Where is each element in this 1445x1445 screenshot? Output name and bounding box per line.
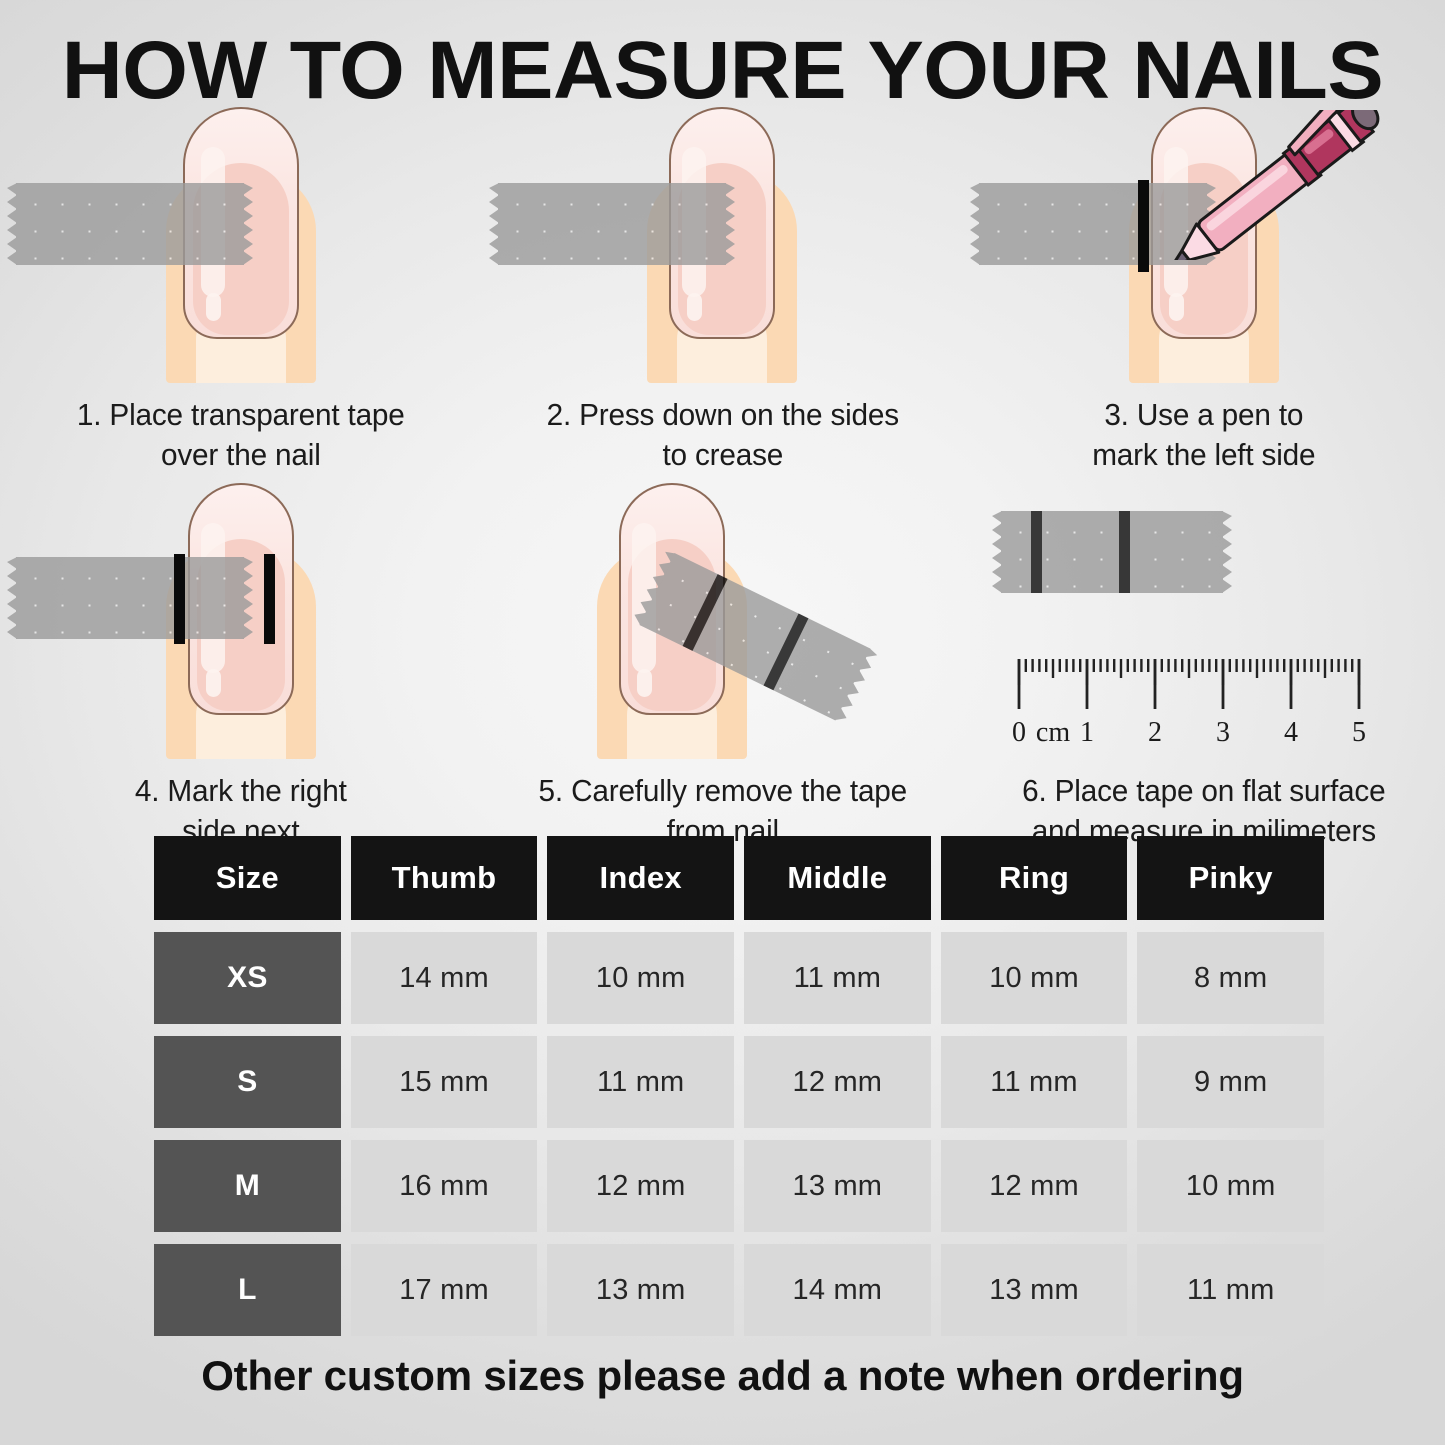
tape-texture [498, 183, 726, 265]
ruler: 0 cm 1 2 3 4 5 [1007, 659, 1407, 755]
table-header-thumb: Thumb [351, 836, 538, 920]
nail-gloss-small [687, 293, 702, 321]
flat-tape [1001, 511, 1223, 593]
tape-torn-edge-right [1222, 511, 1232, 593]
cell-xs-thumb: 14 mm [351, 932, 538, 1024]
table-header-ring: Ring [941, 836, 1128, 920]
tape-torn-edge-right [243, 183, 253, 265]
finger-creased-tape-icon [482, 118, 964, 383]
step-2: 2. Press down on the sides to crease [482, 118, 964, 475]
tape-torn-edge-right [725, 183, 735, 265]
finger-with-tape-icon [0, 118, 482, 383]
step-caption-line1: 3. Use a pen to [988, 395, 1420, 435]
footer-note: Other custom sizes please add a note whe… [0, 1352, 1445, 1400]
finger-two-marks-icon [0, 491, 482, 759]
ruler-tick-2: 2 [1148, 717, 1162, 748]
step-caption-line2: mark the left side [988, 435, 1420, 475]
step-5: 5. Carefully remove the tape from nail [482, 491, 964, 851]
table-row: XS 14 mm 10 mm 11 mm 10 mm 8 mm [154, 932, 1324, 1024]
cell-m-pinky: 10 mm [1137, 1140, 1324, 1232]
tape-texture [16, 557, 244, 639]
cell-l-middle: 14 mm [744, 1244, 931, 1336]
step-caption: 2. Press down on the sides to crease [491, 395, 953, 475]
cell-xs-pinky: 8 mm [1137, 932, 1324, 1024]
steps-section: 1. Place transparent tape over the nail [0, 118, 1445, 851]
table-header-middle: Middle [744, 836, 931, 920]
tape-on-ruler-icon: 0 cm 1 2 3 4 5 [963, 491, 1445, 759]
tape-torn-edge-left [970, 183, 980, 265]
cell-xs-ring: 10 mm [941, 932, 1128, 1024]
step-caption-line1: 5. Carefully remove the tape [507, 771, 939, 811]
pen-mark-left [1138, 180, 1149, 272]
ruler-tick-1: 1 [1080, 717, 1094, 748]
tape-torn-edge-left [7, 557, 17, 639]
nail-gloss-small [206, 293, 221, 321]
table-header-pinky: Pinky [1137, 836, 1324, 920]
nail-gloss-small [206, 669, 221, 697]
infographic-canvas: HOW TO MEASURE YOUR NAILS [0, 0, 1445, 1445]
tape-torn-edge-left [489, 183, 499, 265]
pen-mark-left [174, 554, 185, 644]
cell-xs-index: 10 mm [547, 932, 734, 1024]
step-caption-line2: to crease [507, 435, 939, 475]
step-caption-line2: over the nail [25, 435, 457, 475]
ruler-tick-5: 5 [1352, 717, 1366, 748]
ruler-tick-4: 4 [1284, 717, 1298, 748]
size-label-m: M [154, 1140, 341, 1232]
pen-mark-right [264, 554, 275, 644]
cell-l-thumb: 17 mm [351, 1244, 538, 1336]
table-row: L 17 mm 13 mm 14 mm 13 mm 11 mm [154, 1244, 1324, 1336]
cell-m-index: 12 mm [547, 1140, 734, 1232]
step-caption-line1: 2. Press down on the sides [507, 395, 939, 435]
cell-s-ring: 11 mm [941, 1036, 1128, 1128]
size-label-l: L [154, 1244, 341, 1336]
nail-gloss-small [1169, 293, 1184, 321]
transparent-tape [16, 183, 244, 265]
table-header-index: Index [547, 836, 734, 920]
pen-icon [1159, 110, 1389, 260]
step-caption: 3. Use a pen to mark the left side [973, 395, 1435, 475]
ruler-unit-label: cm [1036, 717, 1070, 748]
ruler-tick-3: 3 [1216, 717, 1230, 748]
size-table: Size Thumb Index Middle Ring Pinky XS 14… [154, 836, 1324, 1348]
step-caption-line1: 4. Mark the right [25, 771, 457, 811]
step-caption-line1: 6. Place tape on flat surface [988, 771, 1420, 811]
finger-pen-mark-left-icon [963, 118, 1445, 383]
cell-s-middle: 12 mm [744, 1036, 931, 1128]
size-label-xs: XS [154, 932, 341, 1024]
step-caption: 1. Place transparent tape over the nail [10, 395, 472, 475]
ruler-tick-0: 0 [1012, 717, 1026, 748]
size-label-s: S [154, 1036, 341, 1128]
cell-s-index: 11 mm [547, 1036, 734, 1128]
transparent-tape [498, 183, 726, 265]
steps-row-1: 1. Place transparent tape over the nail [0, 118, 1445, 475]
table-row: S 15 mm 11 mm 12 mm 11 mm 9 mm [154, 1036, 1324, 1128]
page-title: HOW TO MEASURE YOUR NAILS [0, 24, 1445, 118]
ruler-scale: 0 cm 1 2 3 4 5 [1007, 659, 1407, 755]
finger-tape-peeled-icon [482, 491, 964, 759]
cell-s-pinky: 9 mm [1137, 1036, 1324, 1128]
cell-l-ring: 13 mm [941, 1244, 1128, 1336]
tape-torn-edge-left [7, 183, 17, 265]
tape-torn-edge-left [992, 511, 1002, 593]
tape-torn-edge-right [243, 557, 253, 639]
table-header-row: Size Thumb Index Middle Ring Pinky [154, 836, 1324, 920]
cell-m-middle: 13 mm [744, 1140, 931, 1232]
nail-gloss-small [637, 669, 652, 697]
pen-mark-right [1119, 511, 1130, 593]
cell-l-index: 13 mm [547, 1244, 734, 1336]
step-6: 0 cm 1 2 3 4 5 6. Place tape on flat [963, 491, 1445, 851]
step-caption-line1: 1. Place transparent tape [25, 395, 457, 435]
table-row: M 16 mm 12 mm 13 mm 12 mm 10 mm [154, 1140, 1324, 1232]
steps-row-2: 4. Mark the right side next [0, 491, 1445, 851]
cell-s-thumb: 15 mm [351, 1036, 538, 1128]
transparent-tape [16, 557, 244, 639]
cell-m-thumb: 16 mm [351, 1140, 538, 1232]
ruler-labels: 0 cm 1 2 3 4 5 [1012, 717, 1366, 748]
step-4: 4. Mark the right side next [0, 491, 482, 851]
cell-xs-middle: 11 mm [744, 932, 931, 1024]
cell-l-pinky: 11 mm [1137, 1244, 1324, 1336]
pen-mark-left [1031, 511, 1042, 593]
step-1: 1. Place transparent tape over the nail [0, 118, 482, 475]
table-header-size: Size [154, 836, 341, 920]
cell-m-ring: 12 mm [941, 1140, 1128, 1232]
step-3: 3. Use a pen to mark the left side [963, 118, 1445, 475]
tape-texture [16, 183, 244, 265]
